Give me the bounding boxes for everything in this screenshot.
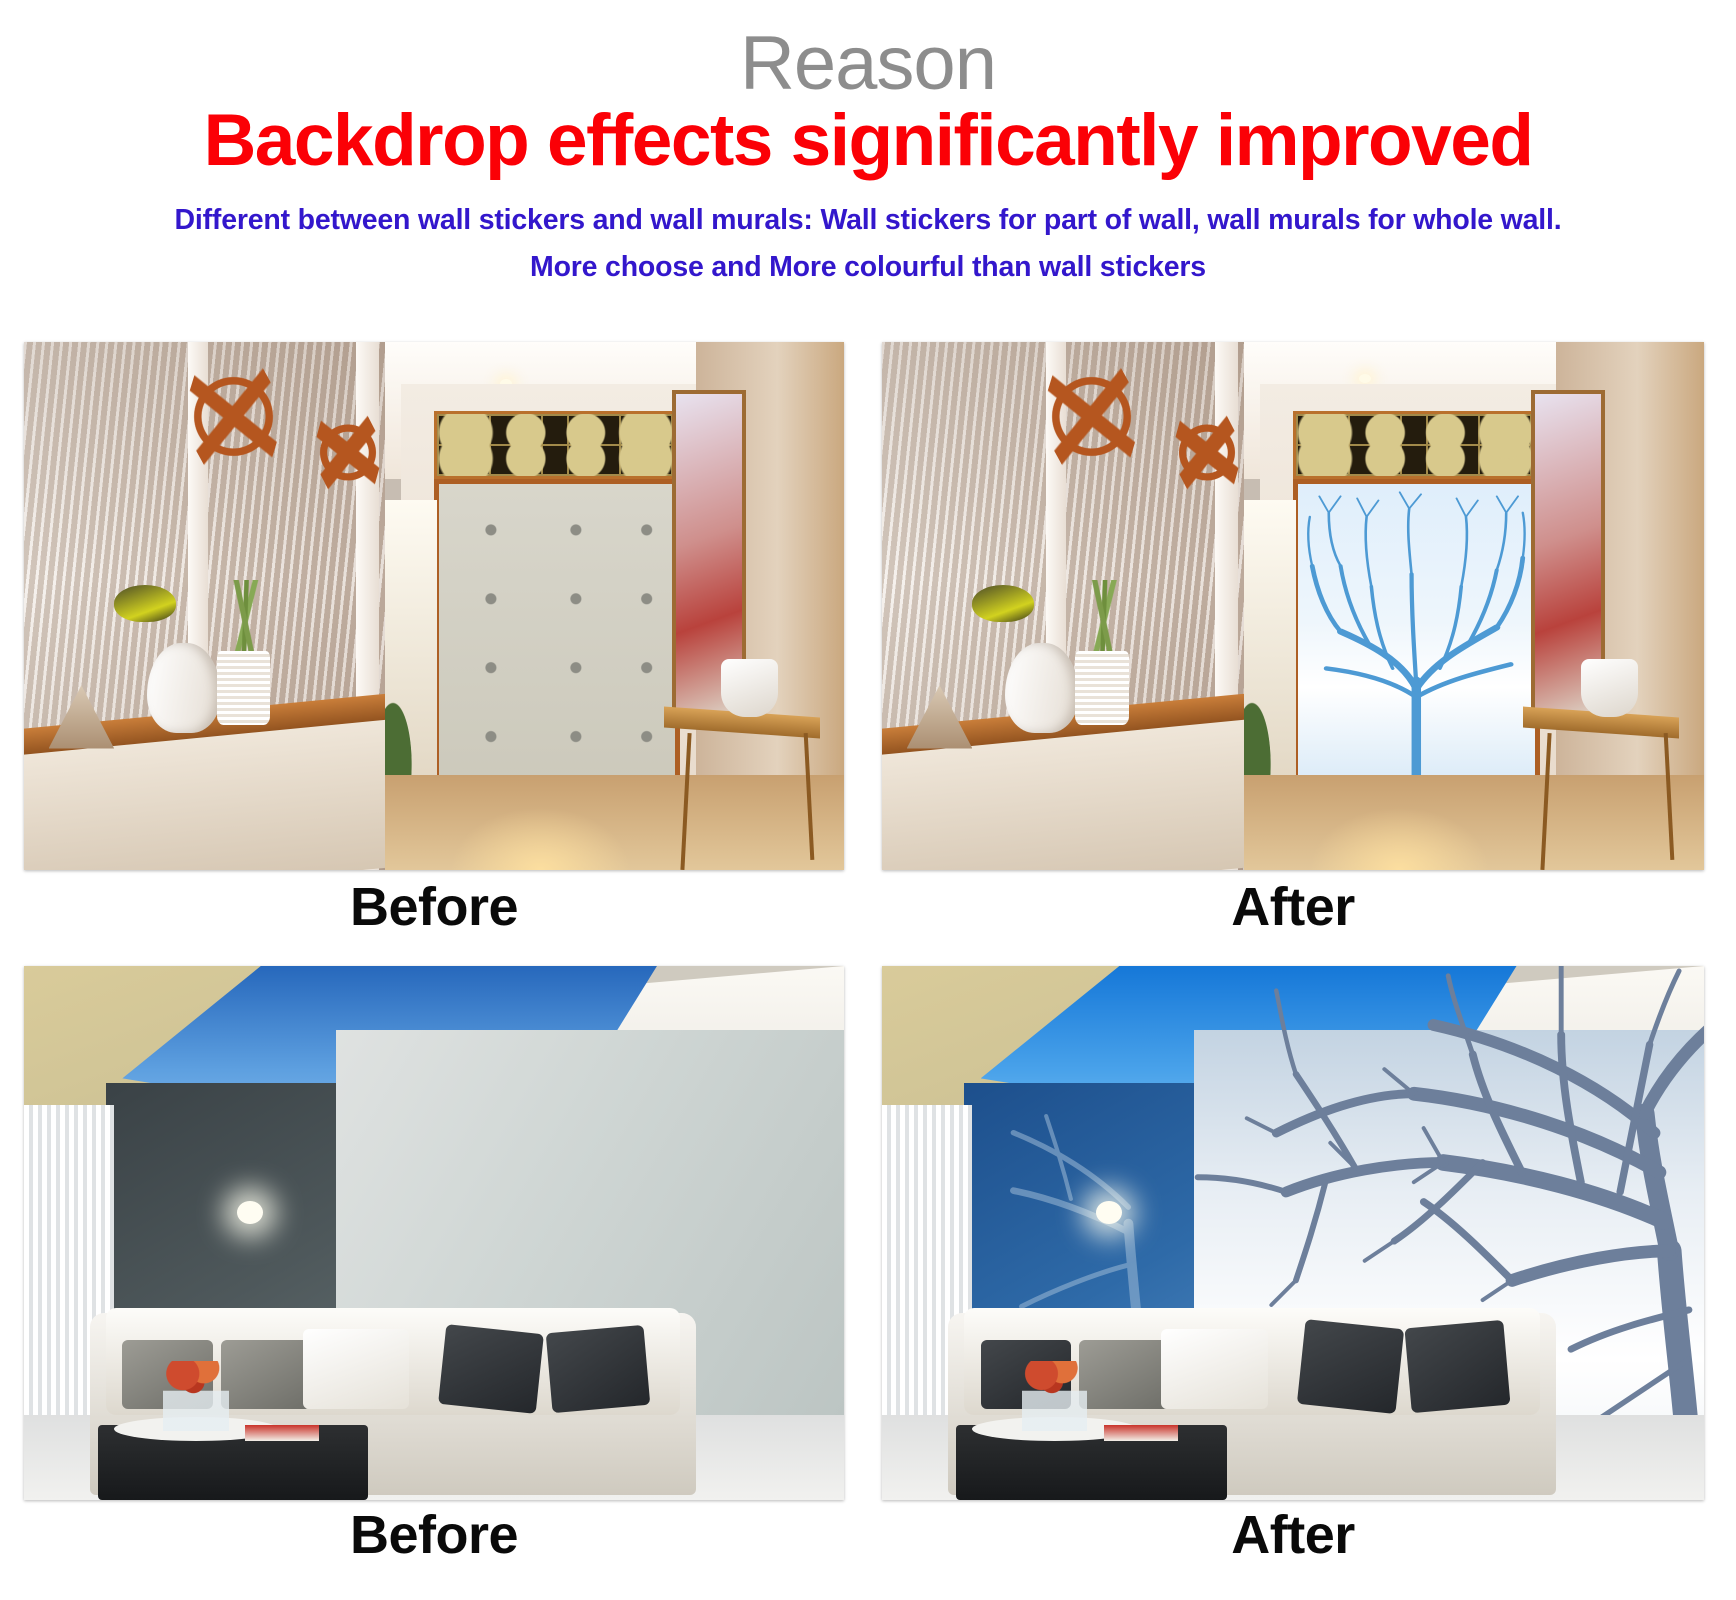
photo-frame	[882, 966, 1704, 1500]
flower-vase-icon	[1022, 1361, 1088, 1430]
book	[245, 1425, 319, 1441]
cushion	[221, 1340, 311, 1409]
caption-livingroom-after: After	[882, 1508, 1704, 1562]
photo-hallway-before[interactable]	[24, 342, 844, 870]
scene-hallway-before	[24, 342, 844, 870]
scene-hallway-after	[882, 342, 1704, 870]
photo-frame	[882, 342, 1704, 870]
wall-lamp-icon	[972, 585, 1034, 622]
wall-mural-tree	[1293, 479, 1540, 817]
cushion	[1161, 1329, 1268, 1409]
ribbed-vase	[217, 651, 270, 725]
decorative-urn	[1581, 659, 1639, 717]
ribbed-vase	[1075, 651, 1128, 725]
cushion	[1079, 1340, 1169, 1409]
caption-hallway-before: Before	[24, 880, 844, 934]
ceiling-light-icon	[1359, 374, 1371, 383]
cushion	[438, 1324, 544, 1414]
cushion	[545, 1325, 650, 1413]
lattice-transom	[1293, 411, 1540, 480]
cushion	[1405, 1320, 1511, 1414]
caption-livingroom-before: Before	[24, 1508, 844, 1562]
cushion	[303, 1329, 410, 1409]
tree-mural-icon	[1298, 484, 1535, 812]
scene-livingroom-before	[24, 966, 844, 1500]
floor-light-glow	[450, 807, 630, 870]
cushion	[1297, 1319, 1404, 1414]
comparison-grid: Before	[0, 0, 1736, 1600]
scene-livingroom-after	[882, 966, 1704, 1500]
wall-panel-plain	[434, 479, 680, 817]
flower-vase-icon	[163, 1361, 229, 1430]
floor-light-glow	[1309, 807, 1490, 870]
white-vase	[1005, 643, 1079, 733]
wall-lamp-icon	[114, 585, 176, 622]
photo-livingroom-after[interactable]	[882, 966, 1704, 1500]
photo-frame	[24, 342, 844, 870]
photo-hallway-after[interactable]	[882, 342, 1704, 870]
book	[1104, 1425, 1178, 1441]
caption-hallway-after: After	[882, 880, 1704, 934]
photo-frame	[24, 966, 844, 1500]
white-vase	[147, 643, 221, 733]
photo-livingroom-before[interactable]	[24, 966, 844, 1500]
lattice-transom	[434, 411, 680, 480]
decorative-urn	[721, 659, 778, 717]
